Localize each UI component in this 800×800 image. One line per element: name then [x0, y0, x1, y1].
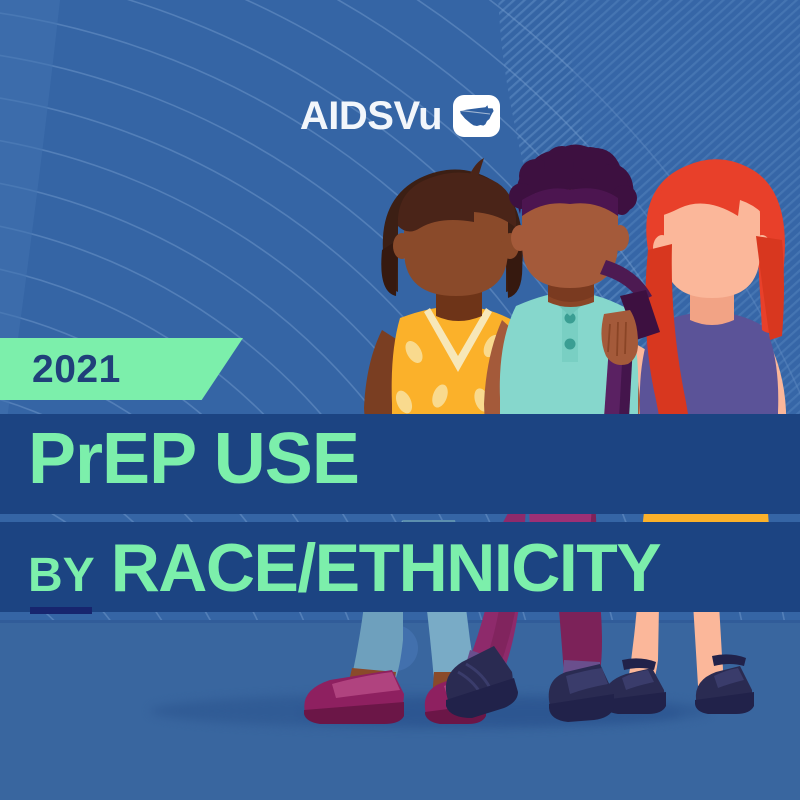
headline-subject: RACE/ETHNICITY [111, 534, 660, 602]
headline-line-2: BY RACE/ETHNICITY [28, 534, 660, 602]
brand-logo[interactable]: AIDSVu [0, 92, 800, 140]
brand-wordmark: AIDSVu [300, 96, 442, 136]
poster-canvas: AIDSVu 2021 PrEP USE BY RACE/ETHNICITY [0, 0, 800, 800]
us-map-icon [453, 95, 500, 137]
year-badge: 2021 [0, 338, 243, 400]
headline-by-word: BY [28, 552, 95, 600]
year-label: 2021 [32, 350, 121, 389]
headline-line-1: PrEP USE [28, 423, 359, 495]
us-map-silhouette [459, 104, 495, 129]
